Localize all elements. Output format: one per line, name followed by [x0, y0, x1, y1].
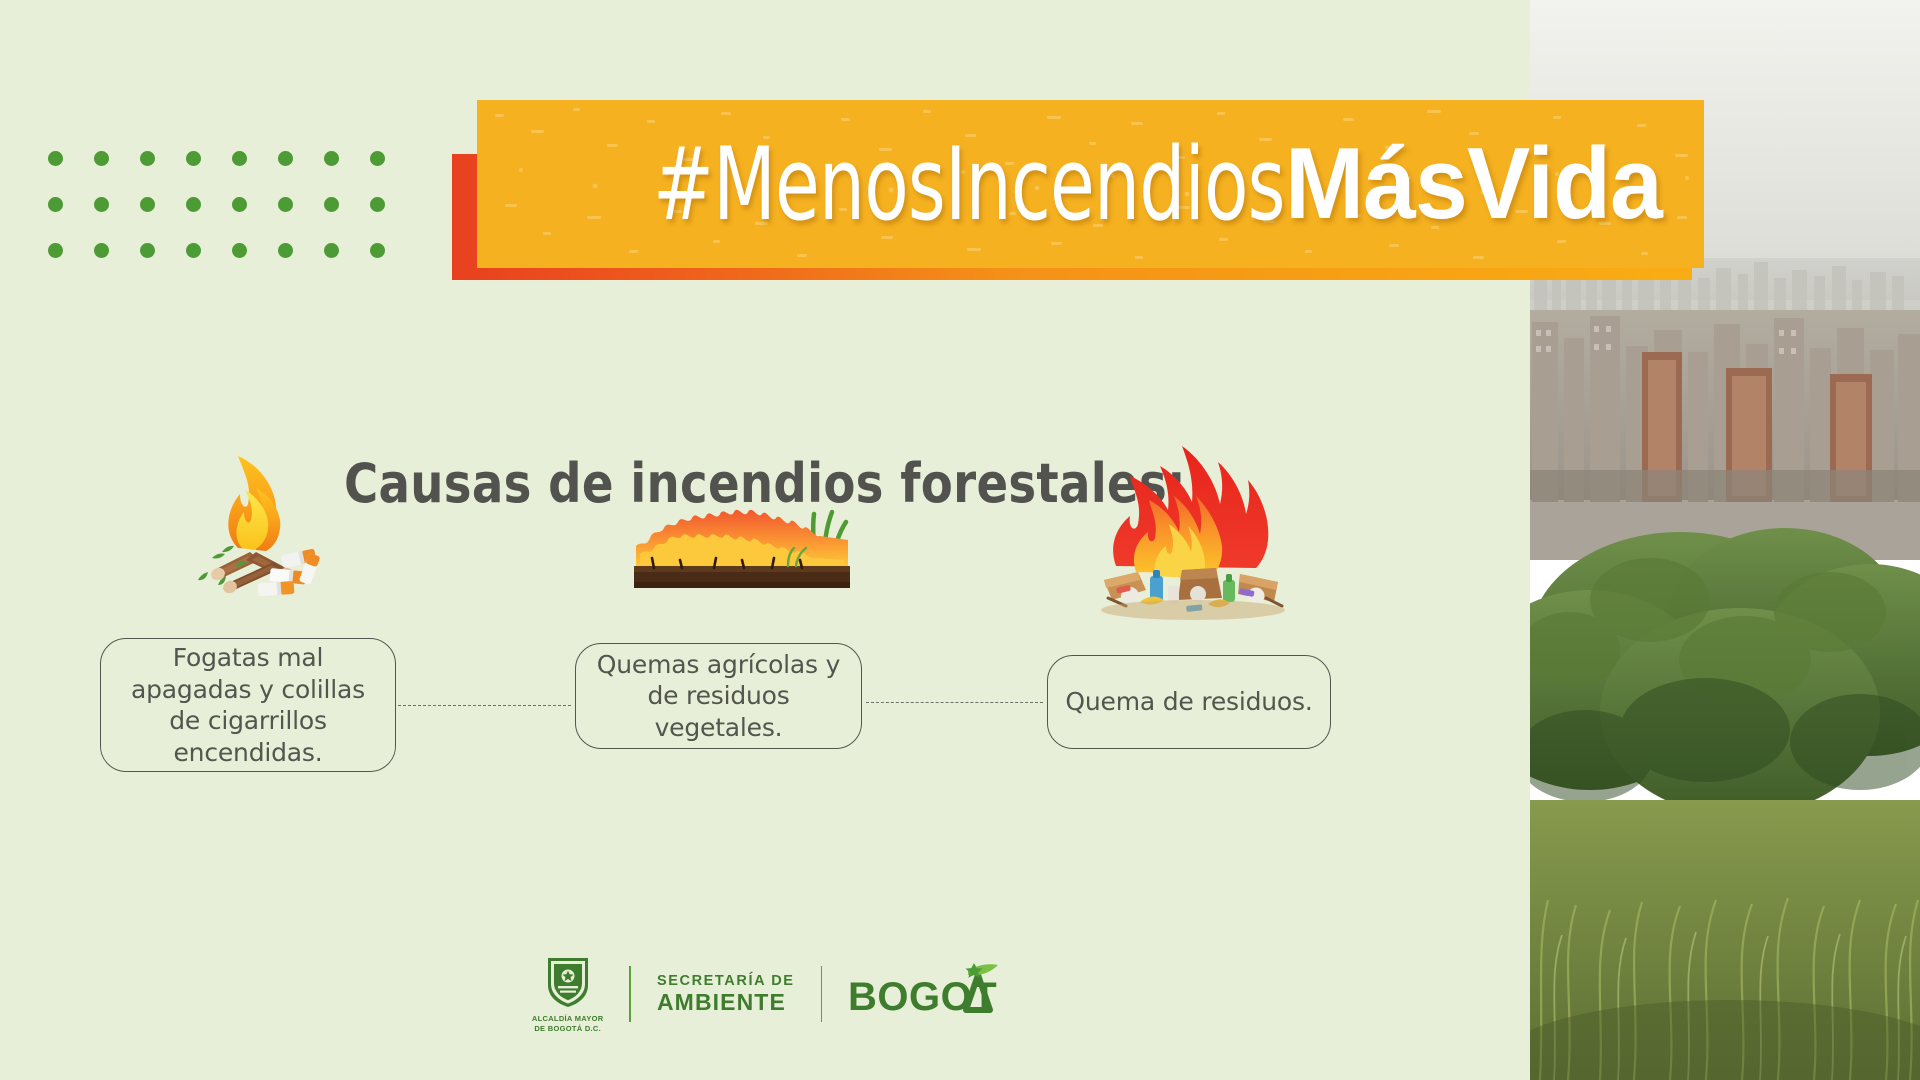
bogota-wordmark-logo: BOGOT [848, 963, 998, 1025]
secretaria-line1: SECRETARÍA DE [657, 974, 795, 990]
logo-divider-1 [629, 966, 631, 1022]
dot [232, 197, 247, 212]
cause-card-quema-residuos-label: Quema de residuos. [1051, 686, 1326, 718]
dot [48, 197, 63, 212]
dot [370, 151, 385, 166]
cause-card-fogatas-label: Fogatas mal apagadas y colillas de cigar… [101, 642, 395, 768]
burning-trash-icon [1090, 440, 1302, 620]
decorative-dot-grid [48, 135, 416, 273]
secretaria-ambiente-logo: SECRETARÍA DE AMBIENTE [657, 974, 795, 1014]
dot [186, 243, 201, 258]
dot [232, 243, 247, 258]
bogota-shield-icon [544, 955, 592, 1009]
dot [140, 243, 155, 258]
dot [232, 151, 247, 166]
causes-diagram: Fogatas mal apagadas y colillas de cigar… [0, 560, 1530, 810]
hashtag-banner: #MenosIncendios MásVida [452, 100, 1704, 280]
dot [94, 197, 109, 212]
secretaria-line2: AMBIENTE [657, 990, 795, 1015]
burning-field-icon [620, 490, 855, 602]
dot [48, 151, 63, 166]
dot [324, 151, 339, 166]
banner-plate: #MenosIncendios MásVida [477, 100, 1704, 268]
cause-card-quemas-agricolas[interactable]: Quemas agrícolas y de residuos vegetales… [575, 643, 862, 749]
alcaldia-mayor-logo: ALCALDÍA MAYOR DE BOGOTÁ D.C. [532, 955, 604, 1034]
dot [94, 151, 109, 166]
hashtag-light-text: #MenosIncendios [653, 134, 1285, 235]
campfire-cigarettes-icon [178, 448, 328, 596]
dot [186, 151, 201, 166]
dot [94, 243, 109, 258]
dot [370, 243, 385, 258]
connector-dashed-1 [398, 705, 571, 706]
dot [186, 197, 201, 212]
dot [278, 151, 293, 166]
dot [48, 243, 63, 258]
dot [278, 197, 293, 212]
dot [324, 197, 339, 212]
alcaldia-caption-line1: ALCALDÍA MAYOR [532, 1014, 604, 1023]
alcaldia-caption: ALCALDÍA MAYOR DE BOGOTÁ D.C. [532, 1014, 604, 1034]
logo-divider-2 [821, 966, 823, 1022]
cause-card-quema-residuos[interactable]: Quema de residuos. [1047, 655, 1331, 749]
dot [140, 151, 155, 166]
cause-card-quemas-agricolas-label: Quemas agrícolas y de residuos vegetales… [576, 649, 861, 744]
infographic-canvas: #MenosIncendios MásVida Causas de incend… [0, 0, 1920, 1080]
cause-card-fogatas[interactable]: Fogatas mal apagadas y colillas de cigar… [100, 638, 396, 772]
dot [140, 197, 155, 212]
dot [370, 197, 385, 212]
hashtag-bold-text: MásVida [1285, 134, 1662, 235]
alcaldia-caption-line2: DE BOGOTÁ D.C. [534, 1024, 601, 1033]
connector-dashed-2 [866, 702, 1043, 703]
dot [324, 243, 339, 258]
footer-logos: ALCALDÍA MAYOR DE BOGOTÁ D.C. SECRETARÍA… [0, 955, 1530, 1034]
dot [278, 243, 293, 258]
